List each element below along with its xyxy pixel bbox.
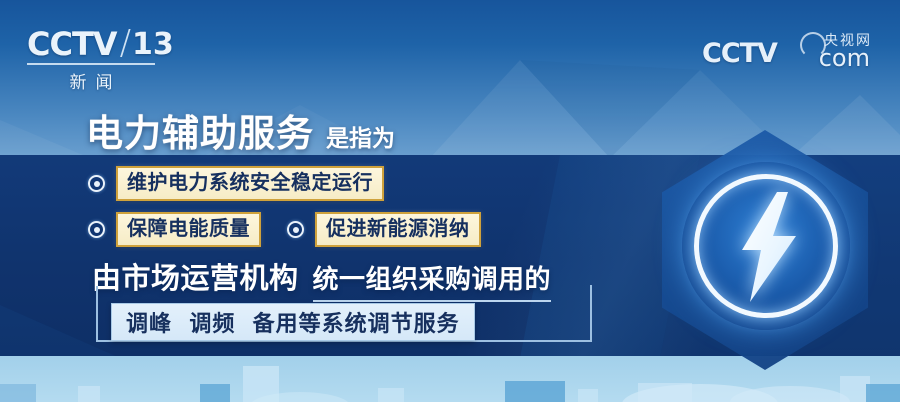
lightning-badge xyxy=(640,122,890,378)
lightning-bolt-icon xyxy=(730,192,804,302)
cctv-com-wordmark: CCTV xyxy=(702,40,777,67)
bullet-row: 维护电力系统安全稳定运行 xyxy=(88,166,507,201)
bullet-row: 保障电能质量 促进新能源消纳 xyxy=(88,212,507,247)
headline-main: 电力辅助服务 xyxy=(86,103,314,157)
cctv13-logo-row: CCTV / 13 xyxy=(27,26,155,60)
bottom-banner: 调峰 调频 备用等系统调节服务 xyxy=(111,303,475,341)
headline: 电力辅助服务 是指为 xyxy=(86,103,395,157)
bullet-list: 维护电力系统安全稳定运行 保障电能质量 促进新能源消纳 xyxy=(88,166,507,258)
bullseye-icon xyxy=(287,221,304,238)
bullet-chip: 促进新能源消纳 xyxy=(315,212,481,247)
cctv-wordmark: CCTV xyxy=(27,28,117,60)
channel-number: 13 xyxy=(132,30,174,60)
list-item: 维护电力系统安全稳定运行 xyxy=(88,166,384,201)
cctv-com-logo: 央视网 CCTV com xyxy=(702,30,872,78)
bullet-chip: 保障电能质量 xyxy=(116,212,261,247)
channel-name: 新闻 xyxy=(27,68,155,93)
bullseye-icon xyxy=(88,175,105,192)
logo-underline xyxy=(27,63,155,65)
bullseye-icon xyxy=(88,221,105,238)
cctv-com-suffix: com xyxy=(819,46,870,70)
bullet-chip: 维护电力系统安全稳定运行 xyxy=(116,166,384,201)
list-item: 保障电能质量 xyxy=(88,212,261,247)
cctv13-logo: CCTV / 13 新闻 xyxy=(27,26,155,86)
broadcast-graphic-stage: CCTV / 13 新闻 央视网 CCTV com 电力辅助服务 是指为 维护电… xyxy=(0,0,900,402)
logo-slash-icon: / xyxy=(120,26,131,60)
headline-suffix: 是指为 xyxy=(326,119,395,153)
bottom-banner-text: 调峰 调频 备用等系统调节服务 xyxy=(126,306,460,338)
list-item: 促进新能源消纳 xyxy=(287,212,481,247)
